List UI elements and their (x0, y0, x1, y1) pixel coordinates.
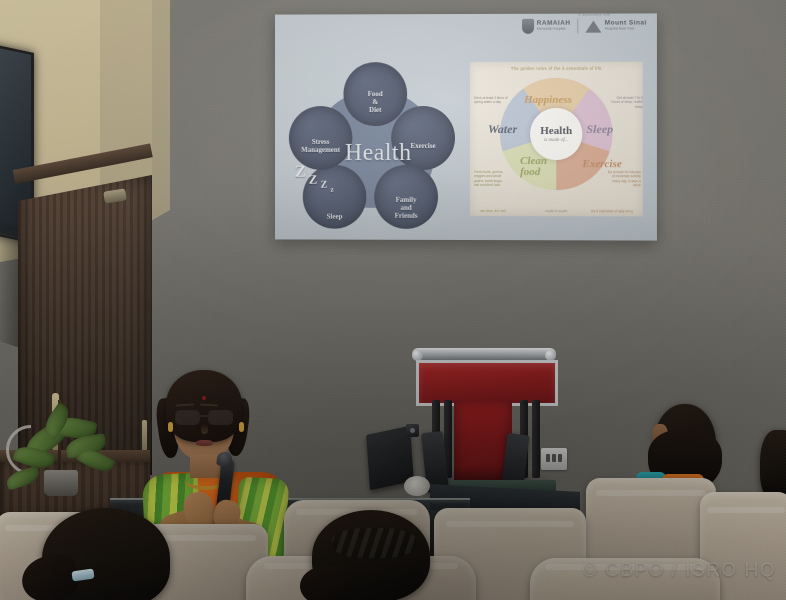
wheel-label-clean-food: Clean food (520, 156, 547, 178)
slide-logo-row: RAMAIAH Memorial Hospital Mount Sinai Ho… (522, 18, 647, 33)
wheel-label-exercise: Exercise (582, 158, 621, 170)
desk-clock (404, 476, 430, 496)
flower-center-label: Health (329, 140, 428, 167)
eyeglasses (174, 410, 234, 424)
photograph-scene: in association with RAMAIAH Memorial Hos… (0, 0, 786, 600)
wheel-note-exercise: Do at least 30 minutes of moderate activ… (606, 170, 640, 188)
mount-sinai-logo: Mount Sinai Hospital New York (586, 20, 647, 32)
presenter-mouth (196, 440, 213, 446)
webcam-icon (406, 424, 419, 437)
wheel-label-happiness: Happiness (524, 94, 572, 106)
sleep-z-icon: Z (309, 172, 318, 188)
conference-chair (586, 478, 716, 566)
five-essentials-infographic: The golden rules of the 5 essentials of … (470, 62, 643, 217)
bindi (202, 396, 206, 400)
audience-head-far-right (760, 430, 786, 500)
shield-icon (522, 19, 534, 34)
wheel-note-clean-food: Fresh fruits, greens, veggies and whole … (474, 170, 508, 188)
petal-sleep-label: Sleep (327, 173, 343, 221)
plant-pot (44, 470, 78, 496)
wheel-hub-subtitle: is made of... (544, 138, 568, 143)
wheel-hub-title: Health (540, 125, 572, 137)
earring (168, 422, 173, 432)
presenter-nose (201, 423, 208, 434)
wheel-hub: Health is made of... (530, 108, 582, 160)
petal-food-and-diet: Food & Diet (343, 62, 407, 126)
audience-braid (332, 528, 416, 558)
ramaiah-logo-subtitle: Memorial Hospital (537, 28, 571, 32)
petal-family-and-friends: Family and Friends (374, 165, 438, 229)
infographic-title: The golden rules of the 5 essentials of … (470, 66, 643, 71)
infographic-footer-right: the 5 essentials of daily living (591, 209, 633, 213)
wheel-note-sleep: Get at least 7 to 8 hours of deep, restf… (609, 96, 643, 109)
projected-slide: in association with RAMAIAH Memorial Hos… (275, 13, 657, 240)
ramaiah-logo: RAMAIAH Memorial Hospital (522, 19, 571, 34)
eyeglass-lens (208, 410, 233, 425)
wheel-label-water: Water (488, 122, 517, 137)
earring (239, 422, 244, 432)
petal-food-label: Food & Diet (368, 74, 383, 114)
lectern-rail (412, 348, 556, 360)
mountain-icon (586, 20, 602, 32)
logo-divider (578, 19, 579, 34)
health-flower-diagram: Food & Diet Exercise Family and Friends … (291, 66, 460, 231)
sleep-z-icon: Z (295, 162, 306, 182)
audience-hair (300, 566, 352, 600)
conference-chair (530, 558, 720, 600)
wheel-label-sleep: Sleep (586, 122, 613, 137)
petal-family-label: Family and Friends (395, 174, 418, 220)
eyeglass-bridge (199, 415, 209, 417)
sleep-z-icon: z (331, 186, 334, 194)
eyeglass-lens (175, 410, 200, 425)
sleep-z-icon: Z (321, 180, 328, 191)
mount-sinai-logo-subtitle: Hospital New York (605, 28, 647, 32)
wheel-note-water: Drink at least 2 litres of spring water … (474, 96, 508, 105)
slide-logo-tiny-label: in association with (578, 13, 610, 16)
